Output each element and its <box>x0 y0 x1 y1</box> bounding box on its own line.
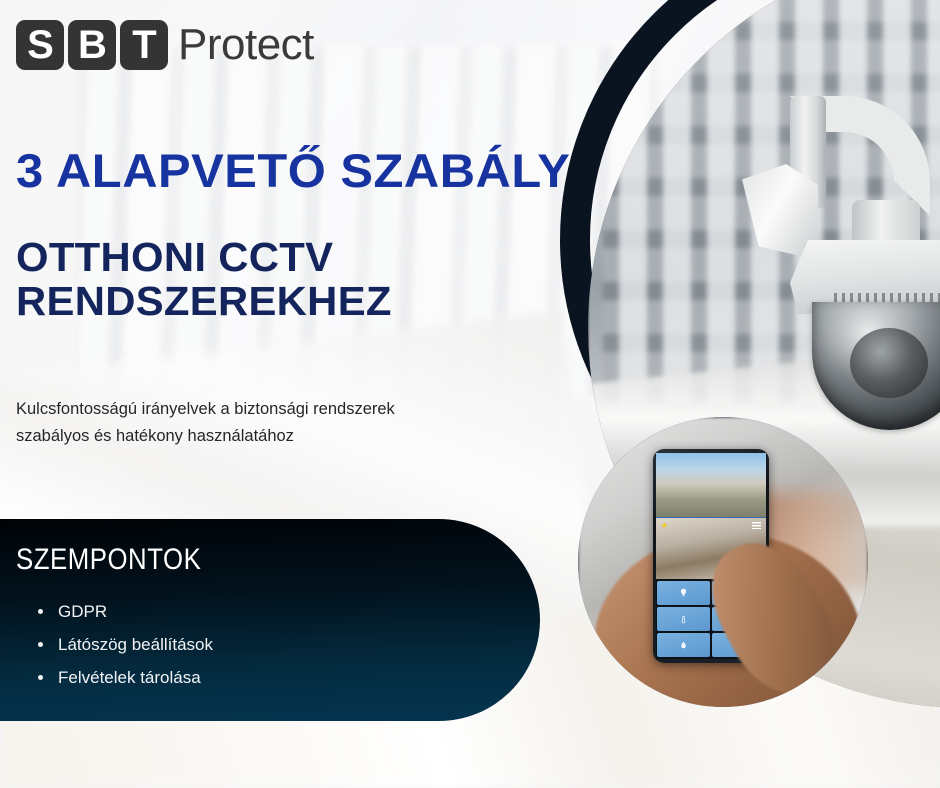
tile-lighting <box>657 581 710 605</box>
headline-primary: 3 ALAPVETŐ SZABÁLY <box>16 143 570 198</box>
tile-temperature <box>657 607 710 631</box>
list-item: GDPR <box>36 595 213 628</box>
headline-secondary: OTTHONI CCTV RENDSZEREKHEZ <box>16 235 392 324</box>
logo-wordmark: Protect <box>178 20 314 70</box>
camera-vents <box>834 293 940 302</box>
star-icon: ★ <box>661 522 668 530</box>
cctv-dome-camera-icon <box>706 88 940 418</box>
subtitle-paragraph: Kulcsfontosságú irányelvek a biztonsági … <box>16 396 428 449</box>
camera-lens <box>850 328 928 398</box>
panel-title: SZEMPONTOK <box>16 543 201 577</box>
logo-letter-t: T <box>120 20 168 70</box>
logo-letter-s: S <box>16 20 64 70</box>
hamburger-menu-icon <box>752 522 761 529</box>
brand-logo[interactable]: S B T Protect <box>16 20 314 70</box>
headline-secondary-line1: OTTHONI CCTV <box>16 235 392 279</box>
tile-water <box>657 633 710 657</box>
list-item: Felvételek tárolása <box>36 661 213 694</box>
headline-secondary-line2: RENDSZEREKHEZ <box>16 279 392 323</box>
camera-dome <box>812 302 940 430</box>
poster-canvas: ★ <box>0 0 940 788</box>
panel-bullet-list: GDPR Látószög beállítások Felvételek tár… <box>36 595 213 694</box>
considerations-panel: SZEMPONTOK GDPR Látószög beállítások Fel… <box>0 519 540 721</box>
list-item: Látószög beállítások <box>36 628 213 661</box>
logo-letter-b: B <box>68 20 116 70</box>
app-camera-feed-top <box>656 453 766 517</box>
smart-home-app-photo: ★ <box>578 417 868 707</box>
